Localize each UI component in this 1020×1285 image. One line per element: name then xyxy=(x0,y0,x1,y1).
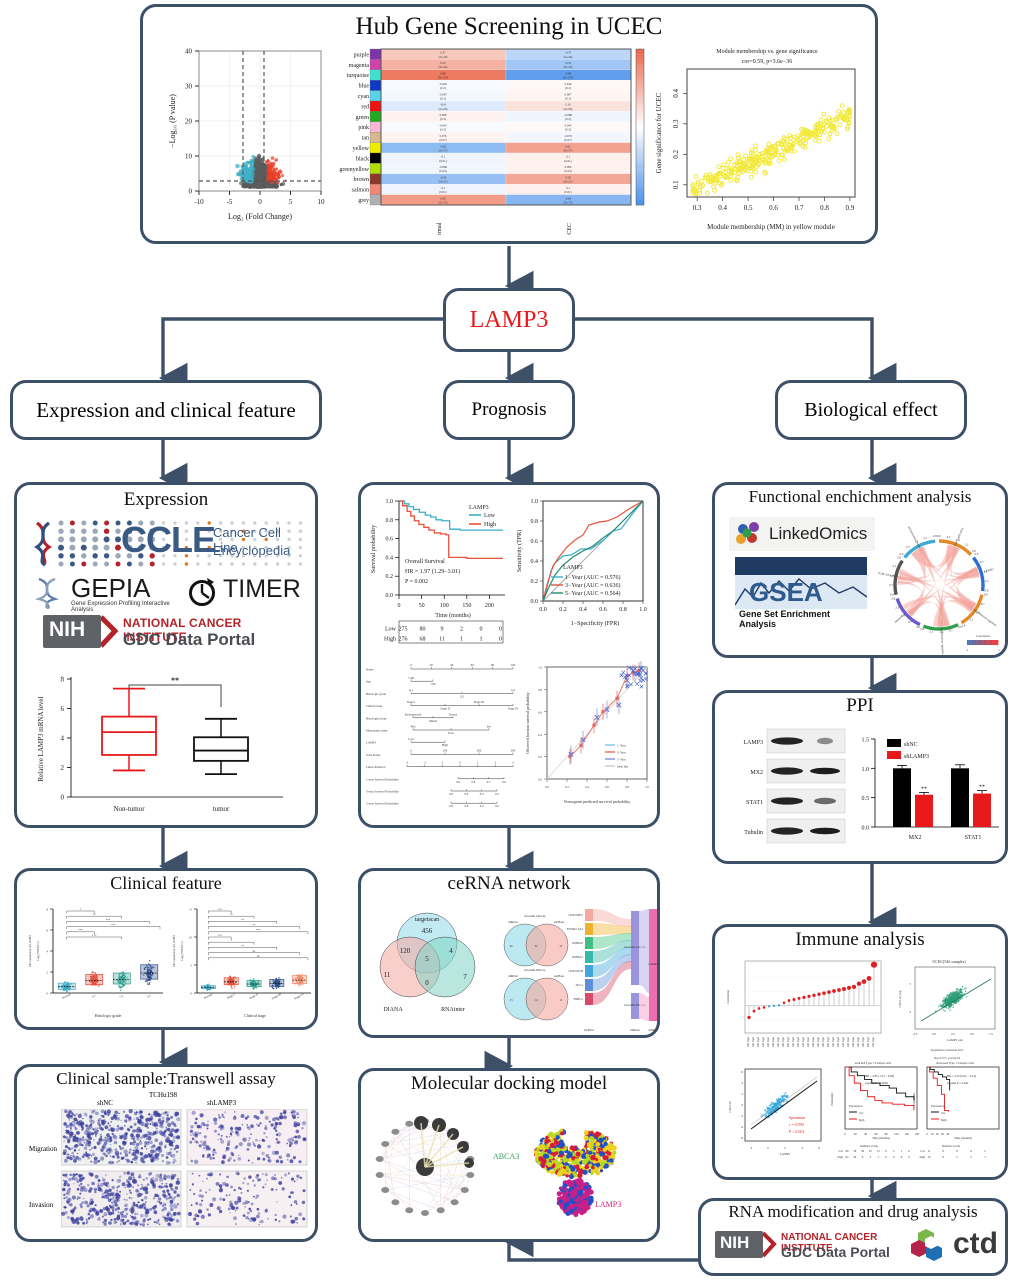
svg-text:11: 11 xyxy=(439,637,445,643)
svg-text:300: 300 xyxy=(511,748,516,752)
svg-text:0.0: 0.0 xyxy=(531,599,539,605)
svg-text:0.0: 0.0 xyxy=(539,607,547,613)
transwell-col-0: shNC xyxy=(97,1099,113,1107)
svg-text:5: 5 xyxy=(191,964,193,968)
svg-text:(0.07): (0.07) xyxy=(564,138,571,142)
svg-text:Serous: Serous xyxy=(449,712,458,716)
svg-text:(0.1): (0.1) xyxy=(565,96,571,100)
svg-text:0.5: 0.5 xyxy=(744,204,753,212)
svg-text:0.8: 0.8 xyxy=(449,792,453,796)
svg-text:(0.2): (0.2) xyxy=(565,117,571,121)
svg-text:0.2: 0.2 xyxy=(559,607,567,613)
svg-text:(0.3): (0.3) xyxy=(565,128,571,132)
volcano-xlabel: Log₂ (Fold Change) xyxy=(228,212,292,221)
svg-text:grey: grey xyxy=(358,198,369,204)
svg-text:***: *** xyxy=(218,907,223,911)
svg-text:yellow: yellow xyxy=(353,146,370,152)
svg-text:0: 0 xyxy=(499,627,502,633)
cal-xlabel: Nomogram predicted survival probability xyxy=(564,799,631,804)
expression-panel: Expression CCLE Cancer Cell Line Encyclo… xyxy=(14,482,318,828)
svg-text:0.3: 0.3 xyxy=(693,204,702,212)
cf1-xlabel: Histologic grade xyxy=(95,1013,122,1018)
scatter-ylabel: Gene significance for UCEC xyxy=(655,92,663,173)
svg-text:Mixed: Mixed xyxy=(429,719,437,723)
svg-text:0.1: 0.1 xyxy=(672,180,680,189)
functional-enrichment-panel: Functional enchichment analysis LinkedOm… xyxy=(712,482,1008,658)
ppi-panel: PPI LAMP3MX2STAT1Tubulin 0.00.51.01.5**M… xyxy=(712,690,1008,864)
svg-text:G3: G3 xyxy=(511,688,515,692)
transwell-row-0: Migration xyxy=(29,1145,57,1153)
branch-prognosis[interactable]: Prognosis xyxy=(443,380,575,440)
svg-text:1: 1 xyxy=(480,637,483,643)
svg-text:turquoise: turquoise xyxy=(347,73,370,79)
km-ylabel: Survival probability xyxy=(371,525,377,573)
expression-title: Expression xyxy=(17,489,315,511)
svg-text:(5e-21): (5e-21) xyxy=(439,180,448,184)
svg-text:0.6: 0.6 xyxy=(531,539,539,545)
imm-km2-hr: HR = 4.55 (0.92 − 22.4) xyxy=(947,1074,976,1078)
svg-text:(5e-72): (5e-72) xyxy=(564,200,573,204)
imm2-stat-r: r = 0.590 xyxy=(789,1122,804,1127)
imm-km1-hr: HR = 2.85 (1.33 − 6.09) xyxy=(865,1074,894,1078)
timer-logo: TIMER xyxy=(185,573,315,609)
svg-text:High: High xyxy=(384,637,396,643)
svg-text:200: 200 xyxy=(485,603,494,609)
svg-text:(0.01): (0.01) xyxy=(564,190,571,194)
svg-text:(0.01): (0.01) xyxy=(439,190,446,194)
scatter-title1: Module membership vs. gene significance xyxy=(716,48,818,55)
svg-text:0.6: 0.6 xyxy=(464,792,468,796)
gsea-logo: GSEA Gene Set Enrichment Analysis xyxy=(735,557,867,621)
svg-text:>60: >60 xyxy=(431,682,436,686)
svg-text:-2: -2 xyxy=(423,761,426,765)
svg-text:**: ** xyxy=(241,944,245,948)
venn-diagrams: targetscanDIANARNAinter456120451107hsa-m… xyxy=(363,901,659,1035)
imm-km1-risk-label: Number at risk xyxy=(860,1144,878,1148)
svg-text:green: green xyxy=(356,115,369,121)
svg-text:100: 100 xyxy=(511,663,516,667)
svg-text:G1: G1 xyxy=(409,688,413,692)
svg-text:**: ** xyxy=(253,923,257,927)
nih-gdc-logo: NIH NATIONAL CANCER INSTITUTE GDC Data P… xyxy=(43,615,303,653)
svg-text:***: *** xyxy=(92,933,97,937)
svg-text:0.2: 0.2 xyxy=(495,804,499,808)
svg-text:3-year Survival Probability: 3-year Survival Probability xyxy=(366,790,399,794)
volcano-plot: -10-50510010203040 Log₂ (Fold Change) −L… xyxy=(165,45,333,230)
svg-text:(5e-155): (5e-155) xyxy=(438,76,448,80)
svg-text:60: 60 xyxy=(471,663,475,667)
svg-text:0: 0 xyxy=(410,663,412,667)
svg-text:1.0: 1.0 xyxy=(639,607,647,613)
imm-km1-xlabel: Time (months) xyxy=(872,1136,890,1140)
svg-text:1: 1 xyxy=(477,761,479,765)
svg-text:***: *** xyxy=(78,928,83,932)
imm-km2-ylabel: Probability xyxy=(912,1092,916,1106)
svg-text:0.6: 0.6 xyxy=(502,780,506,784)
svg-text:0.2: 0.2 xyxy=(672,149,680,158)
ccle-wordmark: CCLE xyxy=(121,519,215,561)
boxplot-group-0: Non-tumor xyxy=(113,805,145,813)
clinical-feature-panel: Clinical feature 02468NormalG1G2G3******… xyxy=(14,868,318,1030)
svg-text:-3: -3 xyxy=(406,761,409,765)
svg-text:tan: tan xyxy=(362,136,369,142)
svg-text:100: 100 xyxy=(443,748,448,752)
imm-km1-p: logrank P = 0.0049 xyxy=(865,1081,888,1085)
svg-text:0: 0 xyxy=(61,794,65,802)
svg-text:Pre: Pre xyxy=(487,725,492,729)
svg-text:0: 0 xyxy=(258,198,262,206)
scatter-xlabel: Module membership (MM) in yellow module xyxy=(707,223,835,231)
svg-text:(0.04): (0.04) xyxy=(564,169,571,173)
svg-text:-1: -1 xyxy=(441,761,444,765)
svg-text:red: red xyxy=(361,104,369,110)
heatmap-col-ucec: UCEC xyxy=(567,223,573,235)
svg-text:0: 0 xyxy=(189,188,193,196)
svg-text:0.6: 0.6 xyxy=(386,537,394,543)
docking-graphics: ABCA3 LAMP3 xyxy=(363,1101,659,1235)
module-trait-heatmap: purple0.37(5e-20)-0.37(5e-20)magenta0.52… xyxy=(326,45,646,235)
cf2-ylabel2: Log₂(TPKM+1) xyxy=(180,941,184,960)
ccle-logo: CCLE Cancer Cell Line Encyclopedia xyxy=(29,517,309,569)
panel-title-hub: Hub Gene Screening in UCEC xyxy=(143,13,875,41)
svg-text:G2: G2 xyxy=(119,993,125,998)
svg-text:salmon: salmon xyxy=(352,188,369,194)
svg-text:Age: Age xyxy=(366,680,372,684)
svg-text:***: *** xyxy=(218,933,223,937)
svg-text:0.9: 0.9 xyxy=(456,780,460,784)
cerna-panel: ceRNA network targetscanDIANARNAinter456… xyxy=(358,868,660,1038)
docking-label-abca3: ABCA3 xyxy=(493,1152,519,1161)
imm-km2-title: decreased Type 1 T-helper cells xyxy=(936,1061,975,1065)
cf1-ylabel2: Log₂(TPKM+1) xyxy=(36,941,40,960)
svg-text:0: 0 xyxy=(459,761,461,765)
svg-text:15: 15 xyxy=(189,908,193,912)
transwell-title: Clinical sample:Transwell assay xyxy=(17,1069,315,1089)
gepia-sub: Gene Expression Profiling Interactive An… xyxy=(71,601,173,613)
svg-text:(0.2): (0.2) xyxy=(440,117,446,121)
svg-text:Points: Points xyxy=(366,668,374,672)
svg-text:8: 8 xyxy=(61,676,65,684)
svg-text:1.0: 1.0 xyxy=(531,499,539,505)
gsea-wordmark: GSEA xyxy=(749,577,823,608)
svg-text:8: 8 xyxy=(47,908,49,912)
km-stat2: HR = 1.97 (1.29−3.01) xyxy=(405,568,460,575)
boxplot-significance: ** xyxy=(171,676,179,685)
svg-text:68: 68 xyxy=(420,637,426,643)
svg-text:4: 4 xyxy=(47,950,49,954)
svg-text:purple: purple xyxy=(354,52,370,58)
mm-gs-scatter: Module membership vs. gene significance … xyxy=(647,41,875,236)
svg-text:(5e-21): (5e-21) xyxy=(564,180,573,184)
svg-text:Stage III: Stage III xyxy=(474,700,484,704)
svg-text:0.4: 0.4 xyxy=(718,204,727,212)
cf2-ylabel1: The expression of LAMP3 xyxy=(172,934,176,967)
svg-text:cyan: cyan xyxy=(358,94,369,100)
cf2-xlabel: Clinical stage xyxy=(244,1013,266,1018)
imm-km2-xlabel: Time (months) xyxy=(954,1136,972,1140)
svg-text:0: 0 xyxy=(398,603,401,609)
svg-text:0.4: 0.4 xyxy=(386,555,394,561)
nih-gdc-logo-2: NIH NATIONAL CANCER INSTITUTE GDC Data P… xyxy=(715,1229,905,1263)
svg-text:0.9: 0.9 xyxy=(846,204,855,212)
svg-text:black: black xyxy=(356,156,369,162)
svg-text:5−Year (AUC = 0.564): 5−Year (AUC = 0.564) xyxy=(565,590,621,597)
svg-text:***: *** xyxy=(256,928,261,932)
roc-legend-title: LAMP3 xyxy=(563,565,583,571)
svg-text:0.2: 0.2 xyxy=(386,574,394,580)
linkedomics-icon xyxy=(733,520,765,548)
svg-text:Low: Low xyxy=(385,627,397,633)
svg-text:(3e-42): (3e-42) xyxy=(439,65,448,69)
prognosis-survival-panel: 0.00.20.40.60.81.0050100150200 Survival … xyxy=(358,482,660,828)
imm2-ylabel: CXCL10 xyxy=(728,1101,732,1113)
immune-analysis-panel: Immune analysis cell typecell typecell t… xyxy=(712,924,1008,1180)
clinical-grade-plot: 02468NormalG1G2G3*************** The exp… xyxy=(23,901,169,1021)
calibration-plot: 0.00.20.40.60.81.00.00.20.40.60.81.01−Ye… xyxy=(519,661,659,821)
imm-km2-risk-label: Number at risk xyxy=(942,1144,960,1148)
km-legend-high: High xyxy=(484,522,496,528)
svg-text:10: 10 xyxy=(185,153,193,161)
svg-text:0.4: 0.4 xyxy=(579,607,587,613)
km-survival-plot: 0.00.20.40.60.81.0050100150200 Survival … xyxy=(365,491,515,663)
svg-text:(0.2): (0.2) xyxy=(440,86,446,90)
gepia-logo: GEPIA Gene Expression Profiling Interact… xyxy=(33,575,173,611)
km-stat3: P = 0.002 xyxy=(405,579,428,585)
svg-text:Stage I: Stage I xyxy=(407,700,415,704)
lollipop-ylabel: Correlation xyxy=(726,990,730,1004)
svg-text:G2: G2 xyxy=(460,694,464,698)
svg-text:G1: G1 xyxy=(91,993,97,998)
imm-scatter-title: UCEC(546 samples) xyxy=(932,959,966,964)
immune-lollipop: cell typecell typecell typecell typecell… xyxy=(721,957,889,1061)
svg-text:(0.1): (0.1) xyxy=(440,96,446,100)
svg-text:magenta: magenta xyxy=(349,63,370,69)
svg-text:0: 0 xyxy=(47,992,49,996)
svg-text:(0.04): (0.04) xyxy=(439,169,446,173)
volcano-ylabel: −Log₁₀ (P value) xyxy=(168,94,177,148)
imm-km1-legend-title: Expression xyxy=(849,1104,863,1108)
svg-text:40: 40 xyxy=(185,48,193,56)
svg-text:0: 0 xyxy=(410,748,412,752)
svg-text:5: 5 xyxy=(289,198,293,206)
svg-text:(5e-06): (5e-06) xyxy=(439,107,448,111)
svg-text:Clinical stage: Clinical stage xyxy=(366,704,383,708)
svg-text:brown: brown xyxy=(354,177,369,183)
branch-label-2: Biological effect xyxy=(804,399,937,422)
immune-scatter2: -20246-6-4-20246 LAMP3 CXCL10 Spearman r… xyxy=(723,1063,827,1167)
svg-text:2: 2 xyxy=(61,764,65,772)
heatmap-col-normal: normal xyxy=(437,222,443,235)
svg-text:0: 0 xyxy=(499,637,502,643)
svg-text:greenyellow: greenyellow xyxy=(339,167,369,173)
svg-text:275: 275 xyxy=(399,627,408,633)
ctd-wordmark: ctd xyxy=(953,1227,998,1261)
roc-plot: 0.00.20.40.60.81.00.00.20.40.60.81.0 Sen… xyxy=(511,491,659,663)
svg-text:20: 20 xyxy=(430,663,434,667)
imm2-xlabel: LAMP3 xyxy=(780,1152,790,1156)
docking-panel: Molecular docking model ABCA3 LAMP3 xyxy=(358,1068,660,1242)
svg-text:Histologic grade: Histologic grade xyxy=(366,692,387,696)
km-stat1: Overall Survival xyxy=(405,559,445,565)
svg-text:**: ** xyxy=(241,918,245,922)
immune-km2: decreased Type 1 T-helper cells 01020304… xyxy=(907,1057,1003,1167)
imm-scatter-xlabel: LAMP3_exp xyxy=(947,1038,963,1042)
cal-ylabel: Observed fraction survival probability xyxy=(525,692,530,753)
svg-text:30: 30 xyxy=(185,83,193,91)
svg-text:80: 80 xyxy=(491,663,495,667)
svg-text:0.8: 0.8 xyxy=(820,204,829,212)
branch-label-0: Expression and clinical feature xyxy=(36,398,295,423)
functional-title: Functional enchichment analysis xyxy=(715,487,1005,507)
svg-text:Post: Post xyxy=(448,731,453,735)
nih-wordmark: NIH xyxy=(49,618,85,642)
imm-scatter-ylabel: CXCL10_exp xyxy=(898,990,902,1007)
imm-km1-ylabel: Probability xyxy=(830,1092,834,1106)
svg-text:(5e-20): (5e-20) xyxy=(439,55,448,59)
svg-text:(5e-57): (5e-57) xyxy=(439,148,448,152)
svg-text:G3: G3 xyxy=(146,993,152,998)
svg-text:2: 2 xyxy=(495,761,497,765)
imm-km1-title: enriched Type 1 T-helper cells xyxy=(855,1061,892,1065)
svg-text:Low: Low xyxy=(408,737,414,741)
svg-text:0.2: 0.2 xyxy=(495,792,499,796)
svg-text:4: 4 xyxy=(61,735,65,743)
svg-text:0.2: 0.2 xyxy=(531,579,539,585)
ppi-bar-chart: 0.00.51.01.5**MX2**STAT1shNCshLAMP3 xyxy=(847,721,1007,855)
ccle-sub2: Encyclopedia xyxy=(213,543,290,558)
gsea-sub: Gene Set Enrichment Analysis xyxy=(739,609,867,629)
svg-text:0.6: 0.6 xyxy=(599,607,607,613)
svg-text:1−Year (AUC = 0.576): 1−Year (AUC = 0.576) xyxy=(565,574,621,581)
svg-text:Linear Predictor: Linear Predictor xyxy=(366,765,386,769)
docking-title: Molecular docking model xyxy=(361,1073,657,1095)
svg-text:50: 50 xyxy=(419,603,425,609)
svg-text:2: 2 xyxy=(47,971,49,975)
svg-text:(5e-72): (5e-72) xyxy=(439,200,448,204)
svg-text:10: 10 xyxy=(189,936,193,940)
svg-text:0: 0 xyxy=(191,992,193,996)
svg-text:Histological type: Histological type xyxy=(366,716,387,720)
hub-gene-box[interactable]: LAMP3 xyxy=(443,288,575,352)
svg-text:0.7: 0.7 xyxy=(487,780,491,784)
svg-text:9: 9 xyxy=(441,627,444,633)
svg-text:0.3: 0.3 xyxy=(672,119,680,128)
imm-km2-leg-high: high xyxy=(941,1118,947,1122)
svg-text:LAMP3: LAMP3 xyxy=(366,741,376,745)
svg-text:150: 150 xyxy=(462,603,471,609)
svg-text:(0.3): (0.3) xyxy=(440,128,446,132)
svg-text:0: 0 xyxy=(480,627,483,633)
svg-text:0.4: 0.4 xyxy=(480,792,484,796)
roc-ylabel: Sensitivity (TPR) xyxy=(516,530,523,572)
svg-text:0.6: 0.6 xyxy=(769,204,778,212)
gdc-line2-2: GDC Data Portal xyxy=(781,1244,890,1260)
branch-expression-clinical[interactable]: Expression and clinical feature xyxy=(10,380,322,440)
timer-clock-icon xyxy=(185,573,219,607)
svg-text:-5: -5 xyxy=(227,198,233,206)
svg-text:6: 6 xyxy=(47,929,49,933)
cerna-title: ceRNA network xyxy=(361,873,657,895)
svg-text:0.8: 0.8 xyxy=(531,519,539,525)
svg-text:(5e-06): (5e-06) xyxy=(564,107,573,111)
clinical-stage-plot: 051015NormalStage IStage IIStage IIIStag… xyxy=(167,901,317,1021)
svg-text:***: *** xyxy=(111,923,116,927)
svg-text:(5e-20): (5e-20) xyxy=(564,55,573,59)
transwell-panel: Clinical sample:Transwell assay TCHu198 … xyxy=(14,1064,318,1242)
transwell-cellline: TCHu198 xyxy=(149,1091,177,1099)
svg-text:(0.07): (0.07) xyxy=(439,138,446,142)
linkedomics-wordmark: LinkedOmics xyxy=(769,524,867,544)
svg-text:0.4: 0.4 xyxy=(480,804,484,808)
immune-title: Immune analysis xyxy=(715,929,1005,951)
svg-text:(0.01): (0.01) xyxy=(439,159,446,163)
svg-text:1: 1 xyxy=(460,637,463,643)
cf1-ylabel1: The expression of LAMP3 xyxy=(28,934,32,967)
svg-text:<=60: <=60 xyxy=(408,676,415,680)
svg-text:10: 10 xyxy=(318,198,326,206)
svg-text:(5e-155): (5e-155) xyxy=(563,76,573,80)
ppi-title: PPI xyxy=(715,695,1005,717)
svg-text:0.0: 0.0 xyxy=(386,593,394,599)
immune-corr-scatter: UCEC(546 samples) -2.50.02.55.07.550 LAM… xyxy=(891,955,1003,1067)
svg-text:Stage IV: Stage IV xyxy=(508,707,519,711)
boxplot-group-1: tumor xyxy=(213,805,230,813)
svg-text:Menopause status: Menopause status xyxy=(366,729,388,733)
km-xlabel: Time (months) xyxy=(435,612,471,619)
svg-text:0.8: 0.8 xyxy=(386,518,394,524)
svg-text:276: 276 xyxy=(399,637,408,643)
svg-text:5-year Survival Probability: 5-year Survival Probability xyxy=(366,802,399,806)
svg-text:Stage I: Stage I xyxy=(226,992,235,999)
svg-text:0.4: 0.4 xyxy=(531,559,539,565)
transwell-row-1: Invasion xyxy=(29,1201,53,1209)
rna-drug-title: RNA modification and drug analysis xyxy=(701,1202,1005,1222)
imm-km2-legend-title: Expression xyxy=(931,1104,945,1108)
nomogram-plot: PointsAgeHistologic gradeClinical stageH… xyxy=(363,661,523,821)
svg-text:(0.2): (0.2) xyxy=(565,86,571,90)
gdc-line2: GDC Data Portal xyxy=(123,630,255,650)
branch-biological-effect[interactable]: Biological effect xyxy=(775,380,967,440)
ctd-logo: ctd xyxy=(909,1227,1003,1265)
svg-text:Peri: Peri xyxy=(411,725,416,729)
svg-text:-10: -10 xyxy=(194,198,204,206)
svg-text:2: 2 xyxy=(460,627,463,633)
svg-text:40: 40 xyxy=(450,663,454,667)
nih-wordmark-2: NIH xyxy=(720,1233,749,1253)
timer-wordmark: TIMER xyxy=(223,575,301,604)
svg-text:0.6: 0.6 xyxy=(464,804,468,808)
svg-text:**: ** xyxy=(230,913,234,917)
svg-text:**: ** xyxy=(93,913,97,917)
svg-text:Stage II: Stage II xyxy=(440,707,449,711)
imm2-stat-label: Spearman xyxy=(789,1115,805,1120)
western-blot: LAMP3MX2STAT1Tubulin xyxy=(719,723,849,855)
ctd-hex-icon xyxy=(909,1227,955,1265)
gepia-wordmark: GEPIA xyxy=(71,573,150,604)
scatter-title2: cor=0.59, p=3.6e−36 xyxy=(742,59,792,65)
imm-scatter-stat1: Spearman Correlation Test: xyxy=(931,1048,964,1052)
hub-gene-label: LAMP3 xyxy=(470,307,549,334)
chord-diagram: DNA replication0.00.71.42.12.8LAMP30.00.… xyxy=(871,515,1011,655)
svg-text:0.4: 0.4 xyxy=(672,89,680,98)
km-legend-title: LAMP3 xyxy=(469,505,489,511)
svg-text:***: *** xyxy=(106,918,111,922)
imm-km1-leg-high: high xyxy=(859,1118,865,1122)
svg-text:80: 80 xyxy=(420,627,426,633)
branch-label-1: Prognosis xyxy=(472,399,547,421)
svg-text:3: 3 xyxy=(512,761,514,765)
boxplot-ylabel: Relative LAMP3 mRNA level xyxy=(37,696,45,781)
